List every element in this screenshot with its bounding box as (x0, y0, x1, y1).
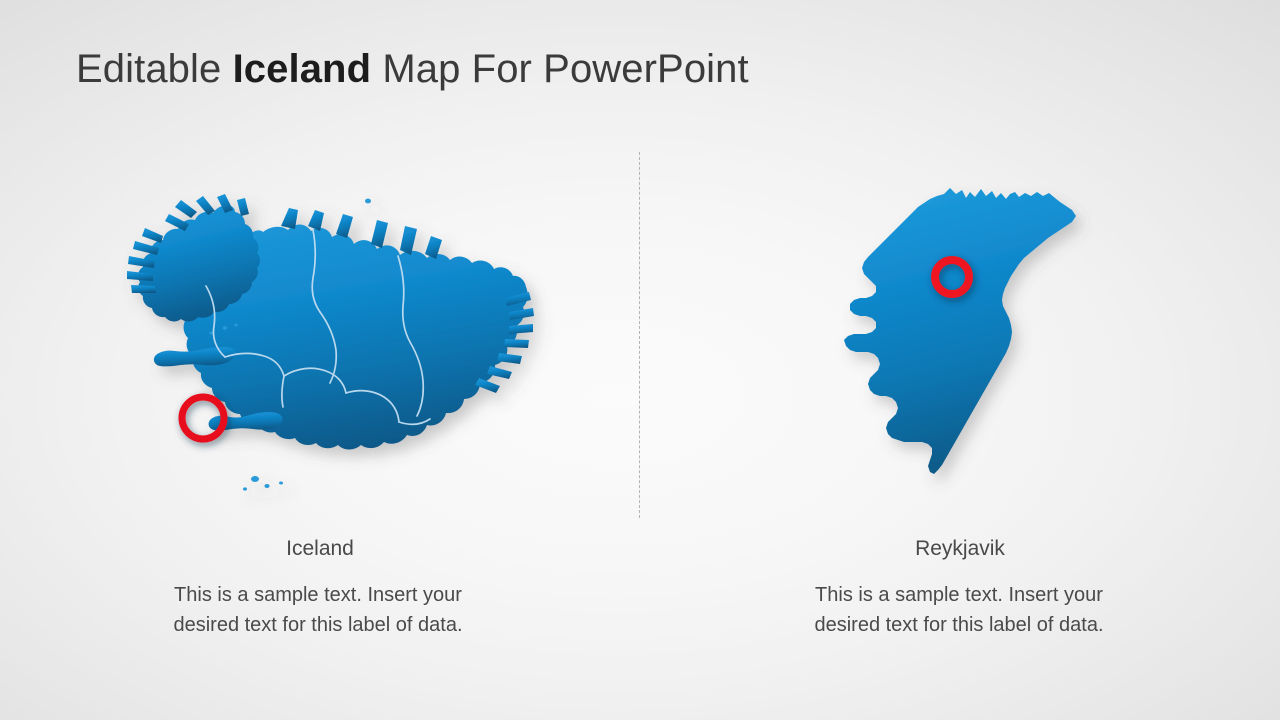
region-title-reykjavik: Reykjavik (640, 534, 1280, 564)
iceland-landmass-group (88, 194, 534, 499)
panel-reykjavik: Reykjavik This is a sample text. Insert … (640, 0, 1280, 720)
iceland-map-stage (0, 186, 640, 522)
reykjavik-region-map[interactable] (810, 180, 1110, 516)
iceland-country-map[interactable] (85, 186, 555, 522)
caption-iceland: Iceland This is a sample text. Insert yo… (0, 534, 640, 640)
reykjavik-map-stage (640, 180, 1280, 516)
region-description-iceland: This is a sample text. Insert your desir… (143, 580, 493, 640)
reykjavik-landmass-group (844, 188, 1076, 474)
region-title-iceland: Iceland (0, 534, 640, 564)
reykjavik-region-shape (844, 188, 1076, 474)
caption-reykjavik: Reykjavik This is a sample text. Insert … (640, 534, 1280, 640)
region-description-reykjavik: This is a sample text. Insert your desir… (784, 580, 1134, 640)
west-coast-inlets (846, 343, 880, 360)
panel-iceland: Iceland This is a sample text. Insert yo… (0, 0, 640, 720)
